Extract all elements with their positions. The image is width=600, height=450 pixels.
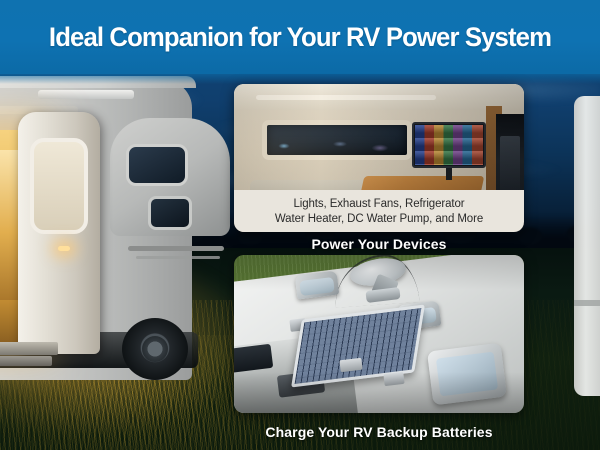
feature-card-power-devices: Lights, Exhaust Fans, Refrigerator Water… (234, 84, 524, 232)
rv-body-stripe-secondary (136, 256, 220, 259)
rv-side-panel-trim (574, 300, 600, 306)
page-title: Ideal Companion for Your RV Power System (9, 0, 591, 74)
rv-vehicle (0, 46, 260, 396)
rv-roof-rail (38, 90, 134, 99)
rv-door-window (30, 138, 88, 234)
rv-roof-photo (234, 255, 524, 413)
feature-subcaption-power-devices: Power Your Devices (234, 236, 524, 252)
rv-entry-step-lower (0, 356, 52, 366)
feature-caption-panel: Lights, Exhaust Fans, Refrigerator Water… (234, 190, 524, 232)
rv-window-lower (148, 196, 192, 230)
rv-side-panel-right (574, 96, 600, 396)
feature-subcaption-charge-batteries: Charge Your RV Backup Batteries (234, 424, 524, 440)
rv-window-upper (126, 144, 188, 186)
caption-line-2: Water Heater, DC Water Pump, and More (275, 212, 483, 226)
rv-wheel-hub (142, 336, 168, 362)
caption-line-1: Lights, Exhaust Fans, Refrigerator (293, 197, 464, 211)
rv-entry-step (0, 342, 58, 355)
feature-card-charge-batteries (234, 255, 524, 413)
roof-photo-vignette (234, 255, 524, 413)
rv-body-stripe (128, 246, 224, 251)
marketing-poster: Ideal Companion for Your RV Power System… (0, 0, 600, 450)
rv-porch-light-icon (58, 246, 70, 251)
